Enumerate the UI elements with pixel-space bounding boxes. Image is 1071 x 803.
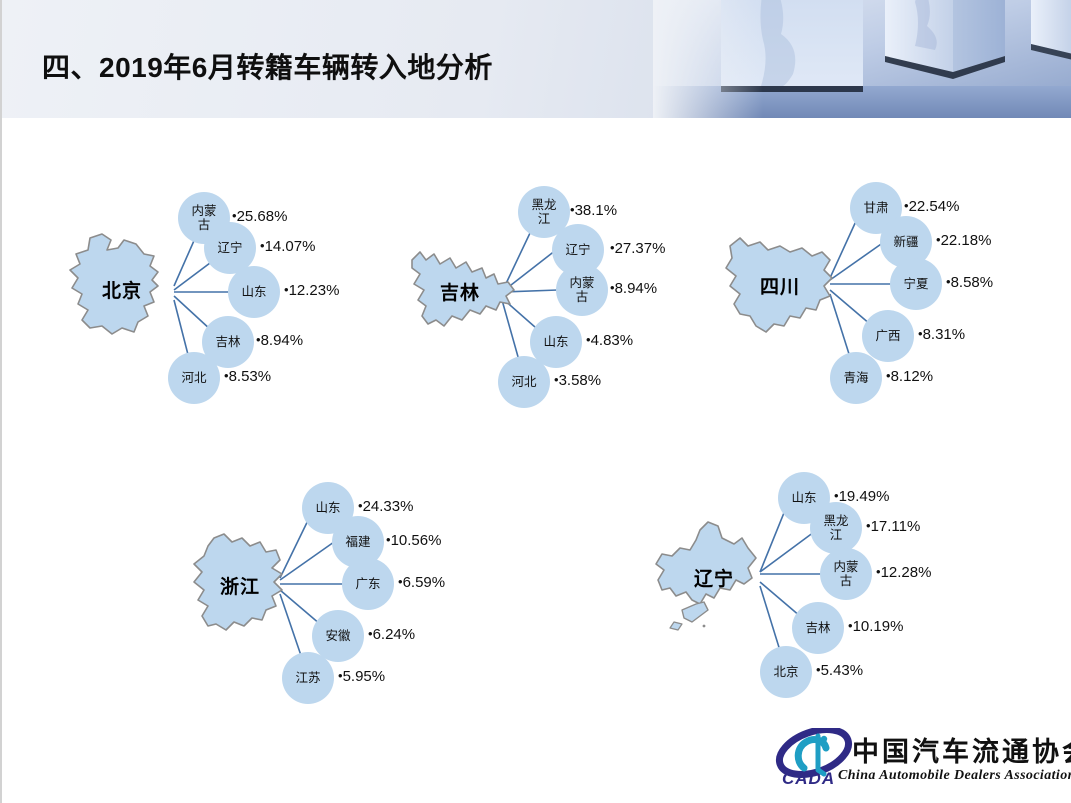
cada-chinese-name: 中国汽车流通协会: [852, 730, 1071, 769]
target-value-beijing-3: •8.94%: [256, 332, 303, 349]
bullet-icon: •: [398, 574, 403, 589]
target-bubble-liaoning-3[interactable]: 吉林: [792, 602, 844, 654]
bullet-icon: •: [256, 332, 261, 347]
target-value-beijing-1: •14.07%: [260, 238, 315, 255]
target-bubble-liaoning-1[interactable]: 黑龙江: [810, 502, 862, 554]
cluster-jilin: 吉林 黑龙江 •38.1% 辽宁 •27.37% 内蒙古 •8.94% 山东 •…: [422, 150, 712, 410]
target-value-sichuan-2: •8.58%: [946, 274, 993, 291]
cluster-source-label-zhejiang: 浙江: [200, 572, 280, 599]
target-value-jilin-0: •38.1%: [570, 202, 617, 219]
cada-abbr-text: CADA: [782, 769, 835, 789]
bullet-icon: •: [876, 564, 881, 579]
cluster-source-label-beijing: 北京: [80, 276, 164, 303]
target-value-zhejiang-4: •5.95%: [338, 668, 385, 685]
target-bubble-sichuan-2[interactable]: 宁夏: [890, 258, 942, 310]
target-value-sichuan-0: •22.54%: [904, 198, 959, 215]
bullet-icon: •: [284, 282, 289, 297]
cluster-sichuan: 四川 甘肃 •22.54% 新疆 •22.18% 宁夏 •8.58% 广西 •8…: [722, 150, 1022, 410]
bullet-icon: •: [570, 202, 575, 217]
target-value-beijing-0: •25.68%: [232, 208, 287, 225]
cada-logo: CADA 中国汽车流通协会 China Automobile Dealers A…: [774, 728, 1060, 796]
cluster-source-label-sichuan: 四川: [740, 272, 820, 299]
target-value-beijing-2: •12.23%: [284, 282, 339, 299]
target-bubble-jilin-4[interactable]: 河北: [498, 356, 550, 408]
bullet-icon: •: [904, 198, 909, 213]
bullet-icon: •: [386, 532, 391, 547]
bullet-icon: •: [918, 326, 923, 341]
target-value-zhejiang-0: •24.33%: [358, 498, 413, 515]
cluster-source-label-jilin: 吉林: [420, 278, 500, 305]
target-value-beijing-4: •8.53%: [224, 368, 271, 385]
target-bubble-sichuan-4[interactable]: 青海: [830, 352, 882, 404]
bullet-icon: •: [866, 518, 871, 533]
target-value-liaoning-1: •17.11%: [866, 518, 920, 535]
bullet-icon: •: [586, 332, 591, 347]
target-value-zhejiang-3: •6.24%: [368, 626, 415, 643]
slide-header-banner: 四、2019年6月转籍车辆转入地分析: [2, 0, 1071, 118]
target-value-sichuan-3: •8.31%: [918, 326, 965, 343]
page-title: 四、2019年6月转籍车辆转入地分析: [42, 46, 493, 86]
cada-english-name: China Automobile Dealers Association: [838, 768, 1071, 784]
cluster-zhejiang: 浙江 山东 •24.33% 福建 •10.56% 广东 •6.59% 安徽 •6…: [182, 450, 482, 710]
target-value-jilin-4: •3.58%: [554, 372, 601, 389]
cluster-liaoning: 辽宁 山东 •19.49% 黑龙江 •17.11% 内蒙古 •12.28% 吉林…: [652, 440, 962, 710]
bullet-icon: •: [554, 372, 559, 387]
cluster-source-label-liaoning: 辽宁: [674, 564, 754, 591]
bullet-icon: •: [886, 368, 891, 383]
target-value-zhejiang-2: •6.59%: [398, 574, 445, 591]
bullet-icon: •: [816, 662, 821, 677]
target-value-jilin-3: •4.83%: [586, 332, 633, 349]
bullet-icon: •: [232, 208, 237, 223]
target-bubble-sichuan-3[interactable]: 广西: [862, 310, 914, 362]
target-value-jilin-2: •8.94%: [610, 280, 657, 297]
target-value-sichuan-1: •22.18%: [936, 232, 991, 249]
target-value-sichuan-4: •8.12%: [886, 368, 933, 385]
target-value-liaoning-4: •5.43%: [816, 662, 863, 679]
bullet-icon: •: [224, 368, 229, 383]
bullet-icon: •: [368, 626, 373, 641]
cluster-beijing: 北京 内蒙古 •25.68% 辽宁 •14.07% 山东 •12.23% 吉林 …: [62, 150, 392, 410]
target-bubble-jilin-2[interactable]: 内蒙古: [556, 264, 608, 316]
slide-canvas: 四、2019年6月转籍车辆转入地分析 北京 内蒙古 •25.68% 辽宁: [0, 0, 1071, 803]
target-value-liaoning-2: •12.28%: [876, 564, 931, 581]
target-bubble-zhejiang-4[interactable]: 江苏: [282, 652, 334, 704]
bullet-icon: •: [338, 668, 343, 683]
bullet-icon: •: [610, 240, 615, 255]
target-value-jilin-1: •27.37%: [610, 240, 665, 257]
target-bubble-beijing-2[interactable]: 山东: [228, 266, 280, 318]
bullet-icon: •: [848, 618, 853, 633]
bullet-icon: •: [358, 498, 363, 513]
bullet-icon: •: [946, 274, 951, 289]
target-bubble-liaoning-4[interactable]: 北京: [760, 646, 812, 698]
bullet-icon: •: [936, 232, 941, 247]
bullet-icon: •: [610, 280, 615, 295]
header-decoration-cubes-image: [653, 0, 1071, 118]
target-bubble-zhejiang-2[interactable]: 广东: [342, 558, 394, 610]
bullet-icon: •: [260, 238, 265, 253]
target-value-liaoning-3: •10.19%: [848, 618, 903, 635]
target-bubble-beijing-4[interactable]: 河北: [168, 352, 220, 404]
target-bubble-liaoning-2[interactable]: 内蒙古: [820, 548, 872, 600]
target-value-zhejiang-1: •10.56%: [386, 532, 441, 549]
bullet-icon: •: [834, 488, 839, 503]
